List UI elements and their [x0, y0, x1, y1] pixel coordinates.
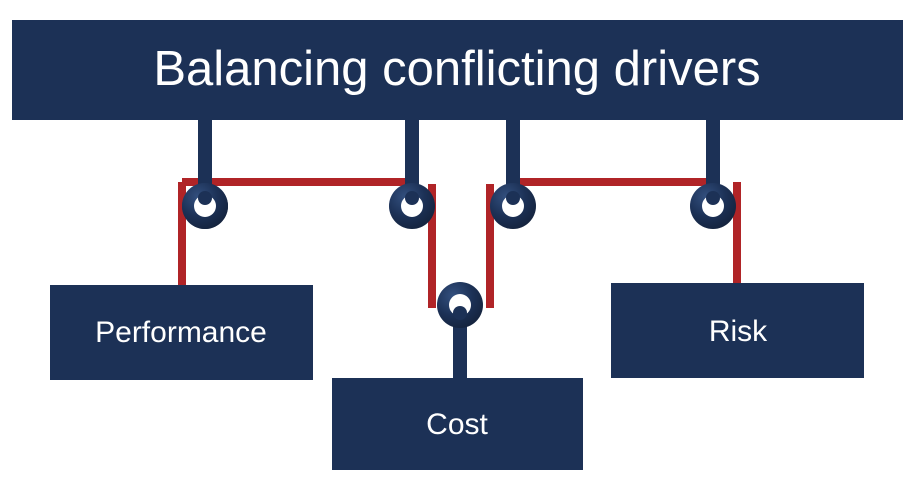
eyelet-2 [389, 183, 435, 229]
node-cost[interactable]: Cost [332, 378, 583, 470]
eyelet-1-overlay [182, 183, 228, 229]
node-performance-label: Performance [95, 316, 267, 349]
node-risk-label: Risk [709, 315, 768, 348]
diagram-canvas: Balancing conflicting drivers Performanc… [0, 0, 913, 490]
eyelet-3 [490, 183, 536, 229]
node-cost-label: Cost [426, 408, 488, 441]
diagram-svg: Balancing conflicting drivers Performanc… [0, 0, 913, 490]
node-risk[interactable]: Risk [611, 283, 864, 378]
eyelet-5 [437, 282, 483, 328]
eyelet-4 [690, 183, 736, 229]
page-title: Balancing conflicting drivers [153, 42, 760, 96]
node-performance[interactable]: Performance [50, 285, 313, 380]
title-bar: Balancing conflicting drivers [12, 20, 903, 120]
